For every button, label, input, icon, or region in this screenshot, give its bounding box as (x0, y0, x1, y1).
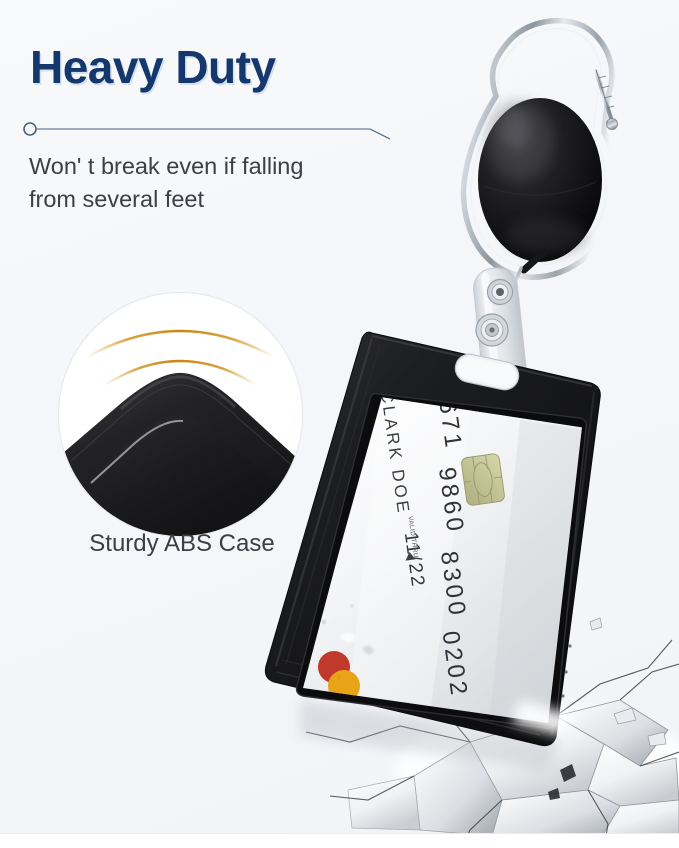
payment-network-logo (318, 651, 360, 702)
strap-rivet-lower (476, 314, 508, 346)
strap-rivet-upper (488, 280, 513, 305)
svg-text:0202: 0202 (437, 629, 473, 699)
card-number-4: 0202 (437, 629, 473, 699)
card-number-g1: 2671 (431, 382, 467, 452)
card-number-2: 9860 (433, 466, 469, 536)
svg-text:VALID THRU: VALID THRU (406, 516, 419, 559)
svg-text:8300: 8300 (435, 549, 471, 619)
emv-chip (461, 453, 505, 506)
subtitle-line-1: Won' t break even if falling (29, 150, 389, 183)
vinyl-strap (472, 252, 544, 390)
card-holder-name: CLARK DOE (377, 390, 413, 517)
card-number-3: 8300 (435, 549, 471, 619)
feature-inset-caption: Sturdy ABS Case (52, 530, 312, 558)
retractable-reel-body (478, 98, 602, 262)
subtitle: Won' t break even if falling from severa… (29, 150, 389, 217)
svg-text:11/22: 11/22 (400, 531, 429, 590)
carabiner-clip (464, 21, 618, 277)
page-title: Heavy Duty (30, 40, 276, 94)
credit-card: 2671 9860 8300 0202 CLARK DOE VALID THRU… (300, 382, 679, 848)
card-pattern (618, 720, 679, 848)
headline-divider (22, 118, 392, 140)
product-feature-image: Heavy Duty Won' t break even if falling … (0, 0, 679, 848)
impact-absorption-corner-icon (59, 293, 302, 536)
subtitle-line-2: from several feet (29, 183, 389, 216)
svg-text:9860: 9860 (433, 466, 469, 536)
valid-thru-label: VALID THRU (406, 516, 419, 559)
card-number: 2671 (431, 382, 467, 452)
abs-badge-case (265, 332, 600, 770)
cracked-floor (306, 618, 679, 848)
card-expiry: 11/22 (400, 531, 429, 590)
bottom-band (0, 834, 679, 848)
divider-dot (24, 123, 36, 135)
badge-slot (453, 352, 521, 393)
divider-tail (370, 129, 390, 139)
feature-inset-circle (58, 292, 303, 537)
svg-text:CLARK DOE: CLARK DOE (377, 390, 413, 517)
